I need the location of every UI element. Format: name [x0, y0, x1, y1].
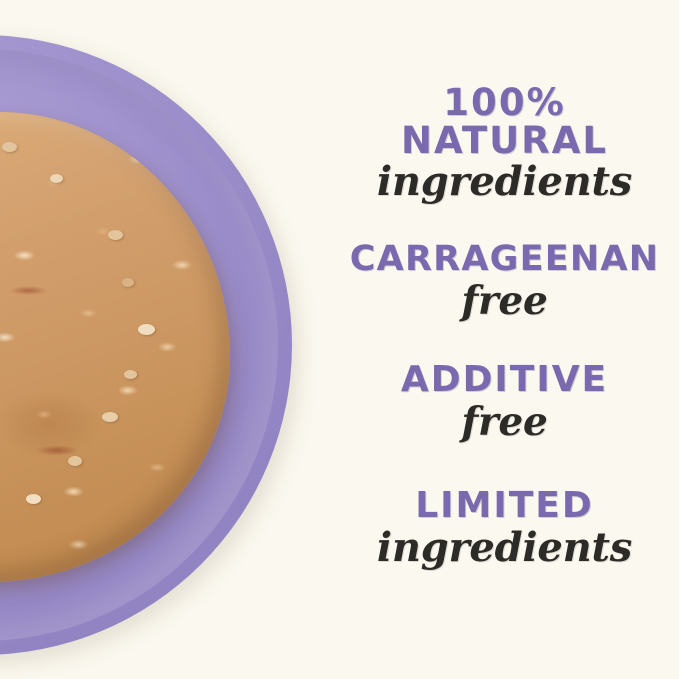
food-crumb [50, 174, 63, 183]
claim-additive-script: free [330, 403, 679, 442]
food-crumb [138, 324, 155, 335]
claim-limited-heading: LIMITED [330, 488, 679, 525]
claim-carrageenan-heading: CARRAGEENAN [330, 242, 679, 278]
claim-limited: LIMITED ingredients [330, 488, 679, 568]
claim-natural-heading-line1: 100% [330, 84, 679, 122]
food-crumb [108, 230, 123, 240]
claim-natural: 100% NATURAL ingredients [330, 84, 679, 202]
claim-carrageenan-script: free [330, 282, 679, 321]
claims-column: 100% NATURAL ingredients CARRAGEENAN fre… [330, 0, 679, 679]
food-crumb [102, 412, 118, 422]
product-photo [0, 0, 330, 679]
claim-natural-script: ingredients [330, 162, 679, 202]
claim-natural-heading-line2: NATURAL [330, 122, 679, 160]
food-crumb [2, 142, 17, 152]
food-crumb [122, 278, 134, 287]
pet-food-mound [0, 112, 230, 582]
claim-carrageenan: CARRAGEENAN free [330, 242, 679, 321]
product-claims-banner: 100% NATURAL ingredients CARRAGEENAN fre… [0, 0, 679, 679]
food-crumb [68, 456, 82, 466]
food-crumb [26, 494, 41, 504]
food-crumb [124, 370, 137, 379]
claim-limited-script: ingredients [330, 528, 679, 568]
claim-additive: ADDITIVE free [330, 362, 679, 442]
claim-additive-heading: ADDITIVE [330, 362, 679, 399]
